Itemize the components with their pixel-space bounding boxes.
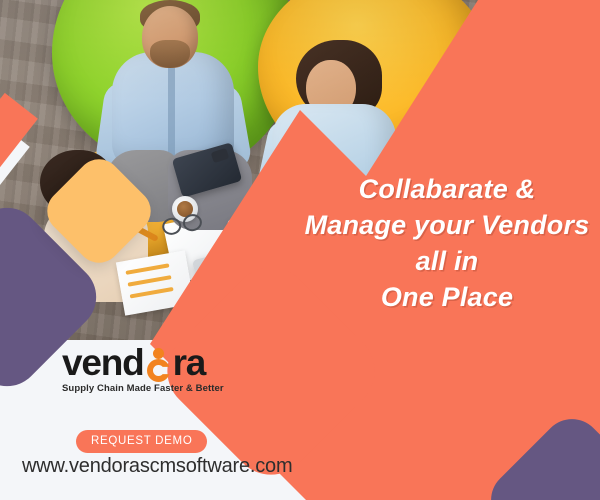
marketing-banner: Collabarate & Manage your Vendors all in… — [0, 0, 600, 500]
logo-text-part1: vend — [62, 344, 144, 381]
headline-line-2: Manage your Vendors — [300, 208, 594, 244]
website-url[interactable]: www.vendorascmsoftware.com — [22, 455, 292, 478]
logo-tagline: Supply Chain Made Faster & Better — [62, 383, 272, 394]
logo-o-dot — [153, 348, 164, 359]
logo: vend ra Supply Chain Made Faster & Bette… — [62, 344, 272, 394]
headline: Collabarate & Manage your Vendors all in… — [300, 172, 594, 316]
request-demo-button[interactable]: REQUEST DEMO — [76, 430, 207, 453]
logo-text-part2: ra — [173, 344, 206, 381]
headline-line-3: all in — [300, 244, 594, 280]
headline-line-1: Collabarate & — [300, 172, 594, 208]
logo-o-icon — [145, 353, 172, 380]
headline-line-4: One Place — [300, 280, 594, 316]
logo-wordmark: vend ra — [62, 344, 272, 381]
logo-o-ring — [147, 359, 170, 382]
